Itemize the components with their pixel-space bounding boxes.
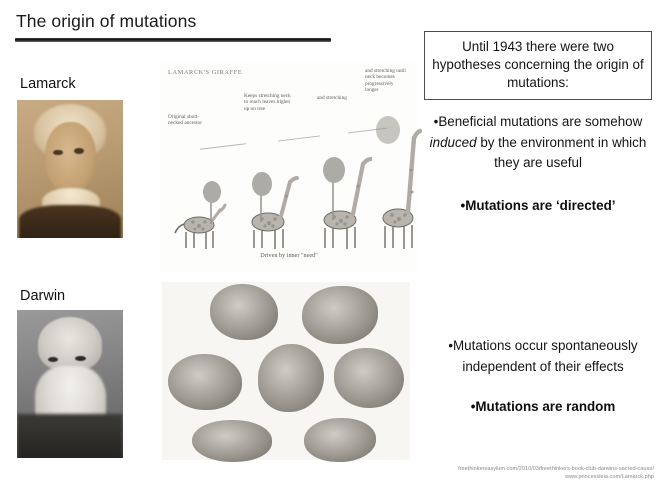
source-credit: freethinkersasylum.com/2010/03/freethink… [0, 465, 654, 482]
pigeon-varieties-plate [162, 282, 410, 460]
lamarck-bullet-text-part2: by the environment in which they are use… [477, 135, 647, 171]
giraffe-illustration-3 [308, 128, 372, 256]
pigeon-illustration-5 [334, 348, 404, 408]
giraffe-illustration-2 [238, 148, 300, 256]
credit-line-2: www.princessleia.com/Lamarck.php [0, 473, 654, 481]
giraffe-note-progressively-longer: and stretching until neck becomes progre… [365, 68, 407, 94]
giraffe-illustration-1 [170, 174, 230, 256]
hypothesis-callout-box: Until 1943 there were two hypotheses con… [424, 31, 652, 100]
credit-line-1: freethinkersasylum.com/2010/03/freethink… [0, 465, 654, 473]
title-divider [15, 38, 331, 42]
lamarck-eye-right [74, 148, 84, 154]
pigeon-illustration-2 [302, 286, 378, 344]
darwin-portrait-image [17, 310, 123, 458]
lamarck-eye-left [53, 150, 63, 156]
darwin-label: Darwin [20, 288, 65, 304]
lamarck-bullet-induced: •Beneficial mutations are somehow induce… [424, 112, 652, 174]
slide-canvas: The origin of mutations Lamarck Darwin L… [0, 0, 660, 495]
page-title: The origin of mutations [16, 11, 196, 32]
giraffe-note-keeps-stretching: Keeps stretching neck to reach leaves hi… [244, 93, 294, 112]
lamarck-bullet-directed: •Mutations are ‘directed’ [424, 198, 652, 213]
lamarck-bullet-text-part1: •Beneficial mutations are somehow [434, 114, 643, 129]
giraffe-note-and-stretching: and stretching [317, 95, 349, 101]
lamarck-face-shape [45, 122, 97, 194]
pigeon-illustration-6 [192, 420, 272, 462]
pigeon-illustration-7 [304, 418, 376, 462]
lamarck-bullet-italic-induced: induced [430, 135, 477, 150]
pigeon-illustration-4 [258, 344, 324, 412]
lamarcks-giraffe-figure: LAMARCK'S GIRAFFE Original short-necked … [160, 62, 418, 272]
giraffe-figure-caption: Driven by inner "need" [160, 252, 418, 259]
giraffe-note-original-ancestor: Original short-necked ancestor [168, 114, 214, 127]
darwin-bullet-spontaneous: •Mutations occur spontaneously independe… [430, 336, 656, 377]
lamarck-label: Lamarck [20, 76, 76, 92]
lamarck-portrait-image [17, 100, 123, 238]
darwin-eye-right [75, 356, 86, 361]
giraffe-figure-title: LAMARCK'S GIRAFFE [168, 69, 242, 76]
giraffe-illustration-4 [372, 108, 422, 256]
darwin-head-shape [38, 317, 102, 370]
darwin-body-shape [17, 414, 123, 458]
darwin-bullet-random: •Mutations are random [430, 399, 656, 414]
lamarck-coat-shape [19, 205, 121, 238]
pigeon-illustration-3 [168, 354, 242, 410]
pigeon-illustration-1 [210, 284, 278, 340]
